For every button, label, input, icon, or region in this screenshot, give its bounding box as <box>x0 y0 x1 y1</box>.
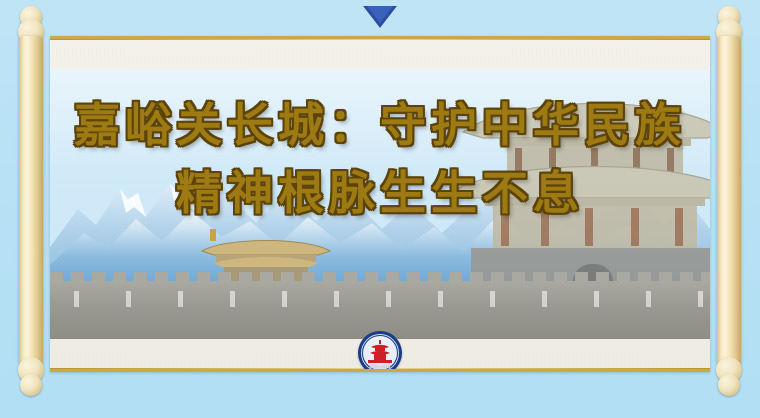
rod-knob-bottom-outer <box>718 374 740 396</box>
wall-arrow-slots <box>50 291 710 307</box>
poster-stage: 嘉峪关融媒 嘉峪关长城：守护中华民族 精神根脉生生不息 <box>0 0 760 418</box>
rod-bar <box>717 36 741 366</box>
scroll-rod-left <box>16 6 46 396</box>
scroll-banner: 嘉峪关融媒 嘉峪关长城：守护中华民族 精神根脉生生不息 <box>16 36 744 366</box>
scroll-paper: 嘉峪关融媒 嘉峪关长城：守护中华民族 精神根脉生生不息 <box>50 36 710 372</box>
rod-knob-bottom-outer <box>20 374 42 396</box>
wall-merlons <box>50 272 710 282</box>
rod-bar <box>19 36 43 366</box>
jiayuguan-logo: 嘉峪关融媒 <box>358 331 402 372</box>
scroll-rod-right <box>714 6 744 396</box>
logo-caption: 嘉峪关融媒 <box>358 361 402 372</box>
banner-photo <box>50 69 710 339</box>
collapse-triangle-icon[interactable] <box>363 6 397 28</box>
jiayuguan-gate-tower <box>445 74 710 299</box>
